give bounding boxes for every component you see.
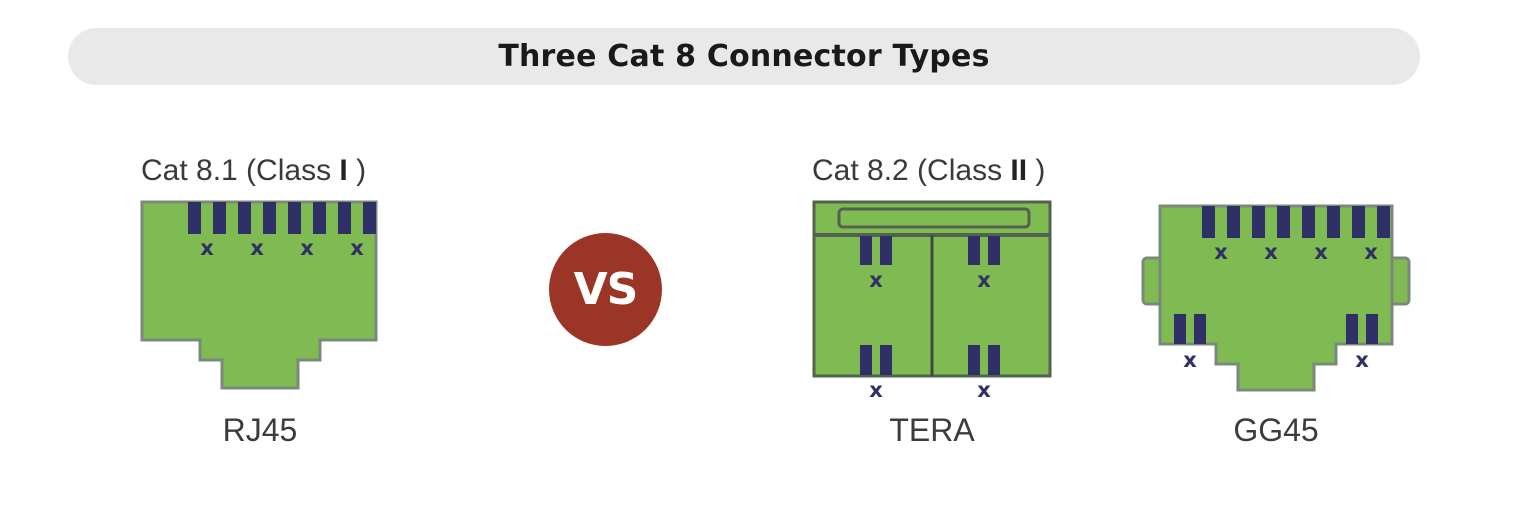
rj45-pin-5 xyxy=(288,202,301,234)
connector-name-gg45: GG45 xyxy=(1140,412,1412,449)
gg45-top-pin-6 xyxy=(1327,206,1340,238)
rj45-illustration xyxy=(140,200,380,395)
class-label-cat82-prefix: Cat 8.2 (Class xyxy=(812,154,1010,187)
connector-name-tera: TERA xyxy=(812,412,1052,449)
title-banner: Three Cat 8 Connector Types xyxy=(68,28,1420,85)
vs-badge: VS xyxy=(549,233,662,346)
tera-bottom-x-mark-1: x xyxy=(869,380,883,401)
gg45-top-x-mark-3: x xyxy=(1314,242,1328,263)
gg45-bottom-pin-1 xyxy=(1174,314,1186,344)
gg45-top-pin-1 xyxy=(1202,206,1215,238)
tera-top-x-mark-2: x xyxy=(977,270,991,291)
connector-gg45: x x x x x x xyxy=(1140,196,1412,396)
gg45-bottom-x-mark-1: x xyxy=(1183,350,1197,371)
diagram-canvas: Three Cat 8 Connector Types Cat 8.1 (Cla… xyxy=(0,0,1536,520)
tera-top-pin-1 xyxy=(860,236,872,265)
gg45-illustration xyxy=(1140,196,1412,396)
rj45-pin-4 xyxy=(263,202,276,234)
gg45-top-pin-4 xyxy=(1277,206,1290,238)
gg45-top-pin-7 xyxy=(1352,206,1365,238)
connector-name-rj45: RJ45 xyxy=(140,412,380,449)
tera-bottom-x-mark-2: x xyxy=(977,380,991,401)
rj45-pin-3 xyxy=(238,202,251,234)
tera-bottom-pin-1 xyxy=(860,345,872,375)
tera-top-slot xyxy=(839,209,1029,227)
tera-top-pin-2 xyxy=(880,236,892,265)
rj45-x-mark-4: x xyxy=(350,238,364,259)
rj45-pin-2 xyxy=(213,202,226,234)
class-label-cat81-suffix: ) xyxy=(348,154,366,187)
tera-top-pin-4 xyxy=(988,236,1000,265)
gg45-bottom-pin-3 xyxy=(1346,314,1358,344)
rj45-x-mark-1: x xyxy=(200,238,214,259)
class-label-cat82-numeral: II xyxy=(1010,154,1027,187)
gg45-bottom-x-mark-2: x xyxy=(1355,350,1369,371)
class-label-cat81-prefix: Cat 8.1 (Class xyxy=(141,154,339,187)
gg45-top-pin-3 xyxy=(1252,206,1265,238)
tera-top-pin-3 xyxy=(968,236,980,265)
gg45-bottom-pin-4 xyxy=(1366,314,1378,344)
class-label-cat82: Cat 8.2 (Class II ) xyxy=(812,154,1045,188)
gg45-top-pin-8 xyxy=(1377,206,1390,238)
vs-badge-label: VS xyxy=(574,264,638,315)
tera-illustration xyxy=(812,200,1052,380)
page-title: Three Cat 8 Connector Types xyxy=(498,39,989,74)
gg45-top-x-mark-4: x xyxy=(1364,242,1378,263)
gg45-top-x-mark-1: x xyxy=(1214,242,1228,263)
class-label-cat81-numeral: I xyxy=(339,154,347,187)
class-label-cat81: Cat 8.1 (Class I ) xyxy=(141,154,366,188)
class-label-cat82-suffix: ) xyxy=(1027,154,1045,187)
tera-bottom-pin-2 xyxy=(880,345,892,375)
connector-rj45: x x x x xyxy=(140,200,380,395)
gg45-bottom-pin-2 xyxy=(1194,314,1206,344)
rj45-pin-6 xyxy=(313,202,326,234)
tera-bottom-pin-3 xyxy=(968,345,980,375)
rj45-x-mark-2: x xyxy=(250,238,264,259)
rj45-pin-8 xyxy=(363,202,376,234)
gg45-top-pin-2 xyxy=(1227,206,1240,238)
rj45-pin-7 xyxy=(338,202,351,234)
rj45-pin-1 xyxy=(188,202,201,234)
rj45-x-mark-3: x xyxy=(300,238,314,259)
connector-tera: x x x x xyxy=(812,200,1052,380)
tera-top-x-mark-1: x xyxy=(869,270,883,291)
gg45-top-x-mark-2: x xyxy=(1264,242,1278,263)
tera-bottom-pin-4 xyxy=(988,345,1000,375)
gg45-top-pin-5 xyxy=(1302,206,1315,238)
